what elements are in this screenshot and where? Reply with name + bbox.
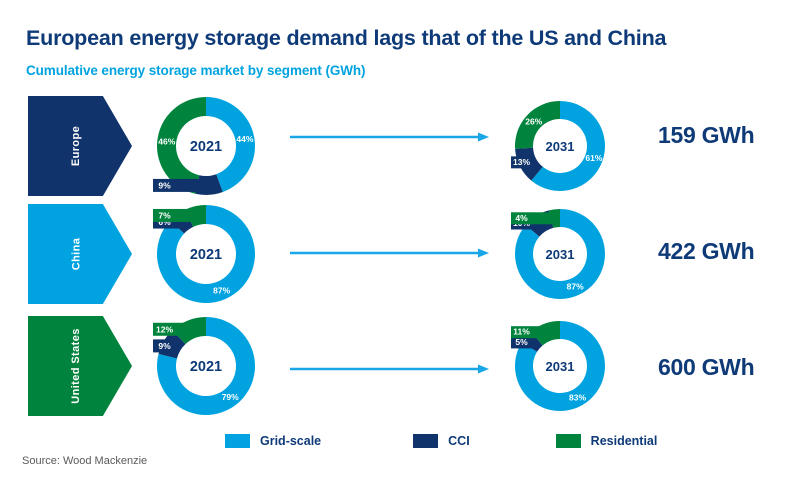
donut-europe-2021: 44%46%9%2021: [150, 92, 262, 200]
region-row-china: China 87%6%7%2021 87%10%4%2031 422 GWh: [0, 200, 800, 310]
slice-callout-cci: 9%: [153, 339, 173, 352]
region-name: China: [70, 238, 82, 271]
donut-chart-svg: 61%26%13%2031: [508, 96, 612, 196]
slice-callout-cci: 9%: [153, 179, 210, 192]
donut-center-year: 2021: [190, 359, 222, 375]
slice-percent-label: 9%: [158, 180, 171, 190]
total-value-china: 422 GWh: [658, 238, 754, 265]
region-row-united-states: United States 79%9%12%2021 83%5%11%2031 …: [0, 312, 800, 422]
donut-center-year: 2031: [546, 139, 575, 154]
legend-item-grid-scale: Grid-scale: [225, 434, 321, 448]
slice-callout-cci: 13%: [511, 156, 530, 168]
donut-center-year: 2021: [190, 139, 222, 155]
slice-percent-label: 9%: [158, 341, 171, 351]
page-subtitle: Cumulative energy storage market by segm…: [26, 63, 365, 78]
slice-percent-label: 79%: [222, 392, 239, 402]
legend-swatch-icon: [225, 434, 250, 448]
donut-center-year: 2021: [190, 247, 222, 263]
slice-percent-label: 44%: [236, 134, 253, 144]
donut-chart-svg: 87%6%7%2021: [150, 200, 262, 308]
slice-callout-residential: 4%: [511, 212, 557, 224]
legend-item-residential: Residential: [556, 434, 658, 448]
region-tag-united-states: United States: [28, 316, 132, 416]
legend-label: Residential: [591, 434, 658, 448]
region-tag-china: China: [28, 204, 132, 304]
legend-label: Grid-scale: [260, 434, 321, 448]
donut-europe-2031: 61%26%13%2031: [508, 96, 612, 196]
slice-callout-cci: 5%: [511, 336, 534, 348]
slice-percent-label: 5%: [515, 337, 528, 347]
donut-chart-svg: 83%5%11%2031: [508, 316, 612, 416]
slice-percent-label: 87%: [213, 285, 230, 295]
region-label-wrapper: United States: [28, 316, 132, 416]
infographic-canvas: European energy storage demand lags that…: [0, 0, 800, 480]
slice-callout-residential: 11%: [511, 326, 549, 338]
total-value-united-states: 600 GWh: [658, 354, 754, 381]
transition-arrow-united-states: [290, 362, 490, 380]
region-label-wrapper: Europe: [28, 96, 132, 196]
donut-china-2021: 87%6%7%2021: [150, 200, 262, 308]
donut-united-states-2031: 83%5%11%2031: [508, 316, 612, 416]
slice-percent-label: 87%: [567, 282, 584, 292]
slice-percent-label: 7%: [158, 210, 171, 220]
slice-percent-label: 4%: [515, 213, 528, 223]
region-label-wrapper: China: [28, 204, 132, 304]
slice-percent-label: 61%: [585, 153, 602, 163]
donut-center-year: 2031: [546, 247, 575, 262]
slice-percent-label: 26%: [525, 116, 542, 126]
slice-percent-label: 83%: [569, 392, 586, 402]
legend-label: CCI: [448, 434, 470, 448]
donut-chart-svg: 79%9%12%2021: [150, 312, 262, 420]
donut-china-2031: 87%10%4%2031: [508, 204, 612, 304]
region-name: United States: [70, 328, 82, 404]
donut-chart-svg: 44%46%9%2021: [150, 92, 262, 200]
legend-swatch-icon: [556, 434, 581, 448]
slice-percent-label: 13%: [513, 157, 530, 167]
region-row-europe: Europe 44%46%9%2021 61%26%13%2031 159 GW…: [0, 92, 800, 202]
legend-item-cci: CCI: [413, 434, 470, 448]
donut-chart-svg: 87%10%4%2031: [508, 204, 612, 304]
source-note: Source: Wood Mackenzie: [22, 455, 147, 467]
slice-percent-label: 11%: [513, 327, 530, 337]
slice-percent-label: 46%: [158, 137, 175, 147]
page-title: European energy storage demand lags that…: [26, 26, 666, 51]
legend: Grid-scale CCI Residential: [225, 434, 657, 448]
donut-center-year: 2031: [546, 359, 575, 374]
slice-percent-label: 12%: [156, 324, 173, 334]
transition-arrow-europe: [290, 130, 490, 148]
region-name: Europe: [70, 126, 82, 166]
donut-united-states-2021: 79%9%12%2021: [150, 312, 262, 420]
region-tag-europe: Europe: [28, 96, 132, 196]
total-value-europe: 159 GWh: [658, 122, 754, 149]
slice-callout-residential: 12%: [153, 323, 192, 336]
transition-arrow-china: [290, 246, 490, 264]
slice-callout-residential: 7%: [153, 209, 198, 222]
legend-swatch-icon: [413, 434, 438, 448]
